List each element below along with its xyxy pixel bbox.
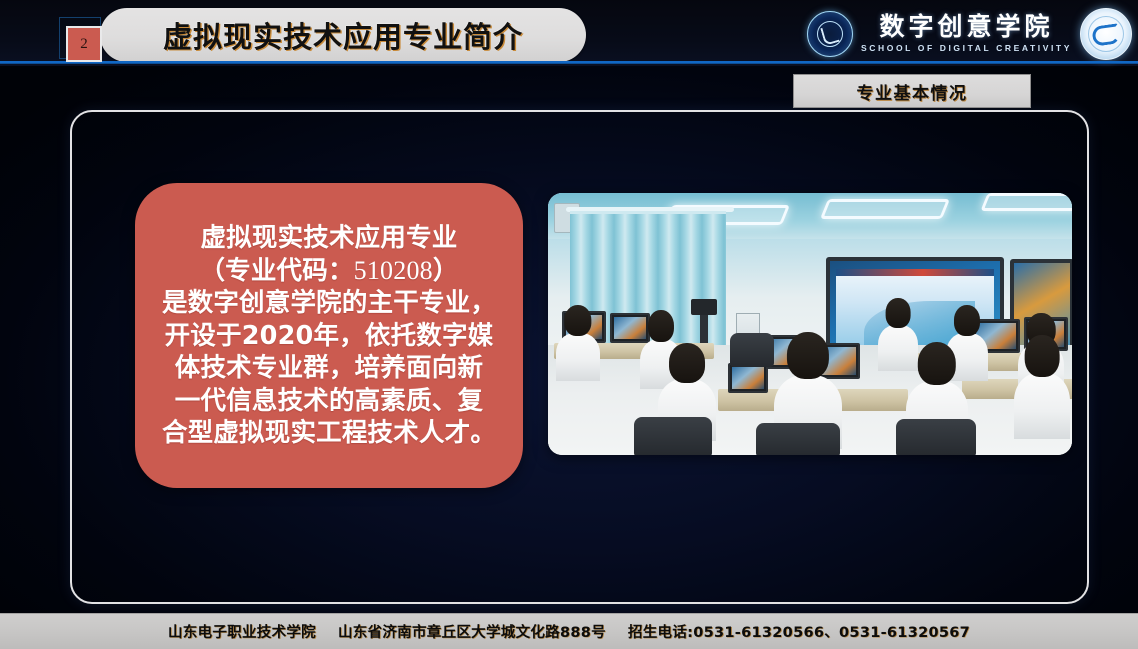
brand-words: 数字创意学院 SCHOOL OF DIGITAL CREATIVITY [861,14,1072,55]
intro-line-4: 开设于2020年，依托数字媒 [162,320,496,352]
slide-root: 2 虚拟现实技术应用专业简介 数字创意学院 SCHOOL OF DIGITAL … [0,0,1138,649]
section-tag-label: 专业基本情况 [857,79,968,104]
office-chair [896,419,976,455]
section-tag: 专业基本情况 [793,74,1031,108]
footer: 山东电子职业技术学院山东省济南市章丘区大学城文化路888号招生电话:0531-6… [0,613,1138,649]
intro-line-2: （专业代码：510208） [162,254,496,287]
footer-text: 山东电子职业技术学院山东省济南市章丘区大学城文化路888号招生电话:0531-6… [168,621,970,642]
header-divider-line-shadow [0,63,1138,64]
brand-block: 数字创意学院 SCHOOL OF DIGITAL CREATIVITY [807,6,1132,62]
school-seal-icon [807,11,853,57]
university-seal-icon [1080,8,1132,60]
footer-phone-label: 招生电话: [628,625,693,641]
classroom-photo [548,193,1072,455]
office-chair [756,423,840,455]
brand-name-cn: 数字创意学院 [879,14,1053,39]
slide-header: 2 虚拟现实技术应用专业简介 数字创意学院 SCHOOL OF DIGITAL … [0,0,1138,66]
intro-line-6: 一代信息技术的高素质、复 [162,385,496,417]
student [1014,373,1070,439]
intro-code-suffix: ） [433,256,459,286]
brand-name-en: SCHOOL OF DIGITAL CREATIVITY [861,44,1072,53]
ceiling-light [820,199,950,219]
office-chair [634,417,712,455]
intro-line-7: 合型虚拟现实工程技术人才。 [162,417,496,449]
computer-monitor [728,363,768,393]
student [878,325,918,371]
intro-line-1: 虚拟现实技术应用专业 [162,222,496,254]
page-title: 虚拟现实技术应用专业简介 [163,14,523,56]
student [556,333,600,381]
office-chair [730,333,774,367]
major-code: 510208 [354,256,433,285]
intro-code-prefix: （专业代码： [199,256,353,286]
computer-monitor [610,313,650,343]
intro-line-3: 是数字创意学院的主干专业， [162,287,496,319]
intro-card: 虚拟现实技术应用专业 （专业代码：510208） 是数字创意学院的主干专业， 开… [135,183,523,488]
footer-school: 山东电子职业技术学院 [168,625,316,641]
footer-address: 山东省济南市章丘区大学城文化路888号 [338,625,606,641]
slide-number-badge: 2 [66,26,102,62]
intro-card-text: 虚拟现实技术应用专业 （专业代码：510208） 是数字创意学院的主干专业， 开… [154,222,504,450]
footer-phone: 0531-61320566、0531-61320567 [693,625,970,641]
slide-title-pill: 虚拟现实技术应用专业简介 [100,8,586,62]
ceiling-light [980,193,1072,211]
intro-line-5: 体技术专业群，培养面向新 [162,352,496,384]
screen-title-bar [836,269,994,276]
